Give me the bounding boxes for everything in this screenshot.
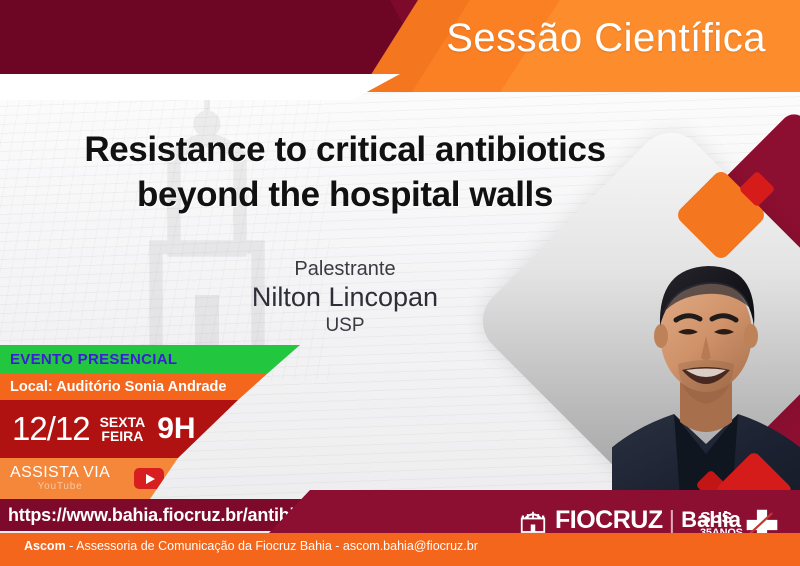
castle-icon bbox=[518, 505, 548, 535]
event-modality-label: EVENTO PRESENCIAL bbox=[0, 351, 177, 368]
sus-line-1: SUS bbox=[700, 511, 743, 527]
headline-line-2: beyond the hospital walls bbox=[0, 173, 690, 218]
top-white-notch bbox=[0, 74, 420, 100]
speaker-institution: USP bbox=[0, 315, 690, 338]
ascom-credit: Ascom - Assessoria de Comunicação da Fio… bbox=[24, 539, 478, 553]
speaker-block: Palestrante Nilton Lincopan USP bbox=[0, 258, 690, 338]
speaker-name: Nilton Lincopan bbox=[0, 281, 690, 315]
watch-platform-label: YouTube bbox=[10, 482, 110, 492]
event-weekday: SEXTA FEIRA bbox=[90, 415, 146, 443]
speaker-role-label: Palestrante bbox=[0, 258, 690, 281]
fiocruz-wordmark: FIOCRUZ bbox=[555, 506, 663, 535]
headline-line-1: Resistance to critical antibiotics bbox=[0, 128, 690, 173]
event-url[interactable]: https://www.bahia.fiocruz.br/antibiotic bbox=[0, 505, 326, 526]
event-date: 12/12 bbox=[0, 410, 90, 448]
event-time: 9H bbox=[145, 412, 195, 446]
fiocruz-logo-separator: | bbox=[669, 506, 676, 535]
ascom-label: Ascom bbox=[24, 539, 66, 553]
page-title: Resistance to critical antibiotics beyon… bbox=[0, 128, 690, 218]
event-modality-banner: EVENTO PRESENCIAL bbox=[0, 345, 300, 373]
poster-header-title: Sessão Científica bbox=[446, 16, 766, 61]
event-location-label: Local: Auditório Sonia Andrade bbox=[0, 379, 226, 395]
watch-label: ASSISTA VIA bbox=[10, 465, 110, 481]
play-triangle-icon bbox=[146, 474, 155, 484]
event-poster: Sessão Científica bbox=[0, 0, 800, 566]
watch-label-group: ASSISTA VIA YouTube bbox=[0, 465, 110, 492]
ascom-description: - Assessoria de Comunicação da Fiocruz B… bbox=[66, 539, 478, 553]
event-weekday-line-2: FEIRA bbox=[101, 428, 143, 444]
top-maroon-shade bbox=[0, 0, 430, 74]
